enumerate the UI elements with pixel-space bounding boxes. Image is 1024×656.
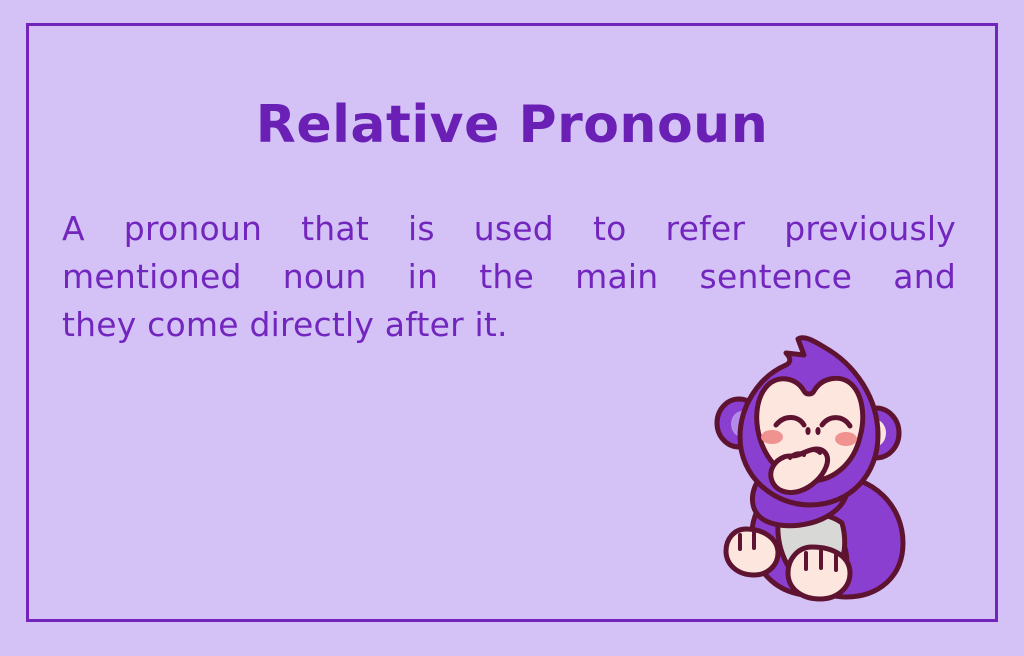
page-title: Relative Pronoun <box>0 96 1024 156</box>
monkey-right-blush <box>835 432 857 446</box>
definition-line-2: mentioned noun in the main sentence and <box>62 253 956 301</box>
flashcard: Relative Pronoun A pronoun that is used … <box>0 0 1024 656</box>
card-content: Relative Pronoun A pronoun that is used … <box>0 0 1024 656</box>
monkey-left-blush <box>761 430 783 444</box>
definition-line-1: A pronoun that is used to refer previous… <box>62 205 956 253</box>
monkey-left-nostril <box>805 427 810 435</box>
baby-monkey-illustration <box>700 325 930 615</box>
monkey-svg <box>700 325 930 615</box>
monkey-right-nostril <box>815 427 820 435</box>
